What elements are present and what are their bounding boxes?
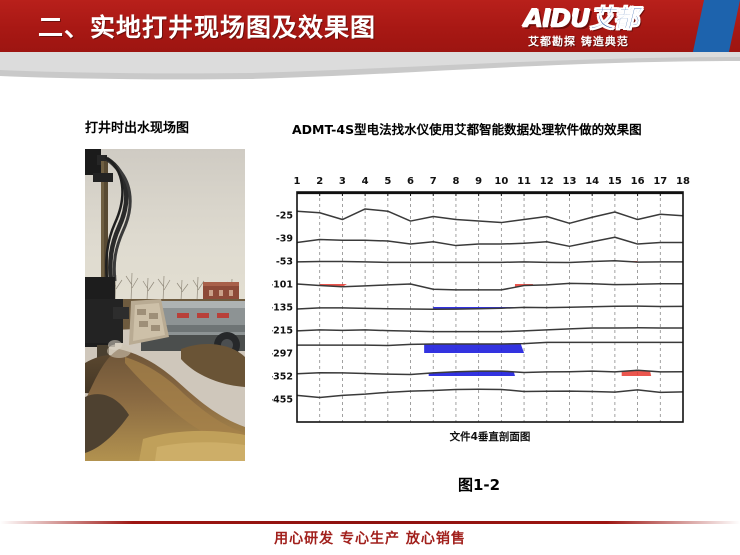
- low-anomaly-fill: [424, 344, 524, 353]
- logo-latin: AIDU: [524, 4, 590, 33]
- y-tick-label: -297: [272, 349, 293, 360]
- x-tick-label: 12: [540, 176, 554, 187]
- header-blue-accent: [693, 0, 740, 52]
- y-tick-label: -39: [276, 234, 293, 245]
- x-tick-label: 15: [608, 176, 622, 187]
- figure-number-label: 图1-2: [458, 474, 500, 495]
- footer-slogan: 用心研发 专心生产 放心销售: [0, 528, 740, 548]
- y-tick-label: -25: [276, 211, 293, 222]
- chart-bottom-title: 文件4垂直剖面图: [449, 430, 531, 443]
- x-tick-label: 3: [339, 176, 346, 187]
- logo-wordmark: AIDU艾都: [524, 3, 692, 34]
- x-tick-label: 17: [653, 176, 667, 187]
- x-tick-label: 7: [430, 176, 437, 187]
- y-tick-label: -352: [272, 372, 293, 383]
- x-tick-label: 13: [563, 176, 577, 187]
- x-tick-label: 11: [517, 176, 531, 187]
- y-tick-label: -455: [272, 395, 293, 406]
- y-tick-label: -53: [276, 257, 293, 268]
- x-tick-label: 14: [585, 176, 599, 187]
- x-tick-label: 2: [316, 176, 323, 187]
- y-tick-label: -135: [272, 303, 293, 314]
- x-tick-label: 1: [294, 176, 301, 187]
- x-tick-label: 6: [407, 176, 414, 187]
- y-tick-label: -215: [272, 326, 293, 337]
- logo-chinese: 艾都: [590, 4, 638, 33]
- vertical-profile-chart: 123456789101112131415161718 -25-39-53-10…: [272, 168, 690, 453]
- x-tick-label: 9: [475, 176, 482, 187]
- left-photo-caption: 打井时出水现场图: [85, 117, 189, 136]
- slide-header-bar: 二、实地打井现场图及效果图 AIDU艾都 艾都勘探 铸造典范: [0, 0, 740, 52]
- drilling-site-photo: [85, 149, 245, 461]
- x-tick-label: 10: [494, 176, 508, 187]
- x-tick-label: 16: [631, 176, 645, 187]
- page-title: 二、实地打井现场图及效果图: [38, 8, 376, 44]
- x-tick-label: 18: [676, 176, 690, 187]
- x-tick-label: 5: [384, 176, 391, 187]
- header-swoosh-decoration: [0, 52, 740, 80]
- x-tick-label: 4: [362, 176, 369, 187]
- footer-divider: [0, 521, 740, 524]
- y-tick-label: -101: [272, 280, 293, 291]
- aidu-logo: AIDU艾都 艾都勘探 铸造典范: [524, 3, 692, 50]
- right-chart-caption: ADMT-4S型电法找水仪使用艾都智能数据处理软件做的效果图: [292, 119, 642, 138]
- logo-slogan: 艾都勘探 铸造典范: [528, 34, 692, 49]
- x-tick-label: 8: [452, 176, 459, 187]
- chart-y-axis-labels: -25-39-53-101-135-215-297-352-455: [272, 211, 293, 406]
